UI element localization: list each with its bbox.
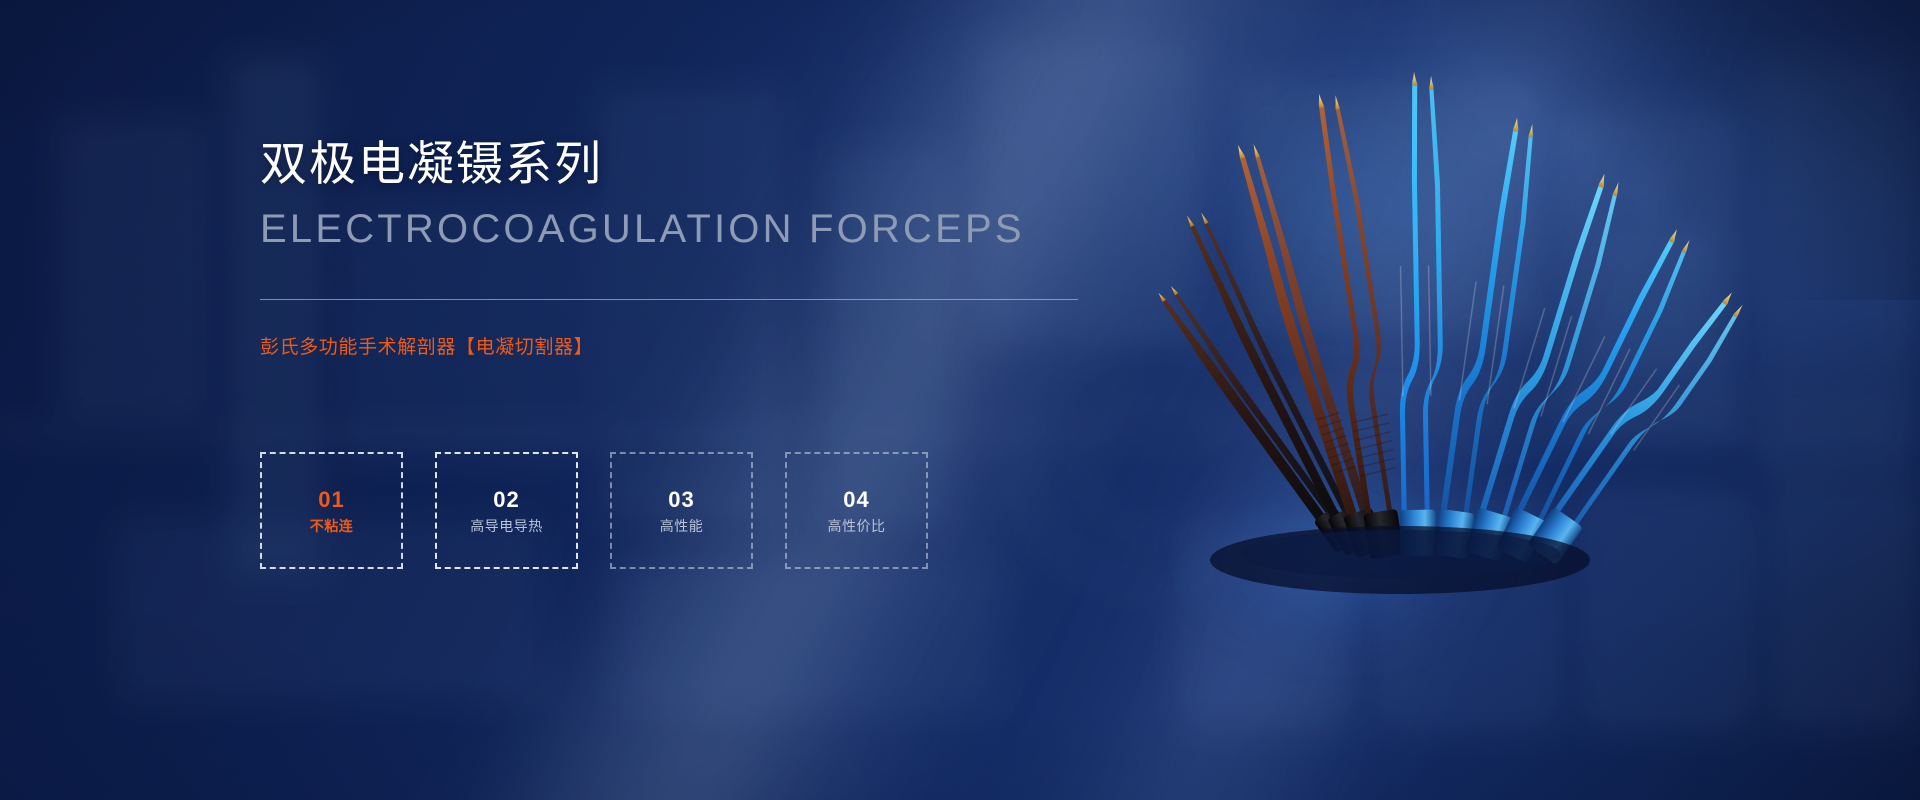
feature-number: 04	[843, 489, 869, 511]
feature-number: 02	[493, 489, 519, 511]
title-divider	[260, 299, 1078, 300]
page-subtitle-english: ELECTROCOAGULATION FORCEPS	[260, 209, 1025, 249]
forceps-dark-group	[1151, 90, 1415, 559]
banner-content: 双极电凝镊系列 ELECTROCOAGULATION FORCEPS 彭氏多功能…	[260, 0, 1160, 800]
feature-label: 不粘连	[310, 519, 354, 533]
feature-number: 03	[668, 489, 694, 511]
feature-label: 高导电导热	[470, 519, 543, 533]
feature-box-01[interactable]: 01 不粘连	[260, 452, 403, 569]
feature-box-03[interactable]: 03 高性能	[610, 452, 753, 569]
feature-number: 01	[318, 489, 344, 511]
feature-label: 高性价比	[828, 519, 886, 533]
feature-box-04[interactable]: 04 高性价比	[785, 452, 928, 569]
feature-label: 高性能	[660, 519, 704, 533]
feature-list: 01 不粘连 02 高导电导热 03 高性能 04 高性价比	[260, 452, 928, 569]
page-title: 双极电凝镊系列	[260, 140, 603, 187]
hero-banner: 双极电凝镊系列 ELECTROCOAGULATION FORCEPS 彭氏多功能…	[0, 0, 1920, 800]
feature-box-02[interactable]: 02 高导电导热	[435, 452, 578, 569]
product-tagline: 彭氏多功能手术解剖器【电凝切割器】	[260, 338, 593, 357]
